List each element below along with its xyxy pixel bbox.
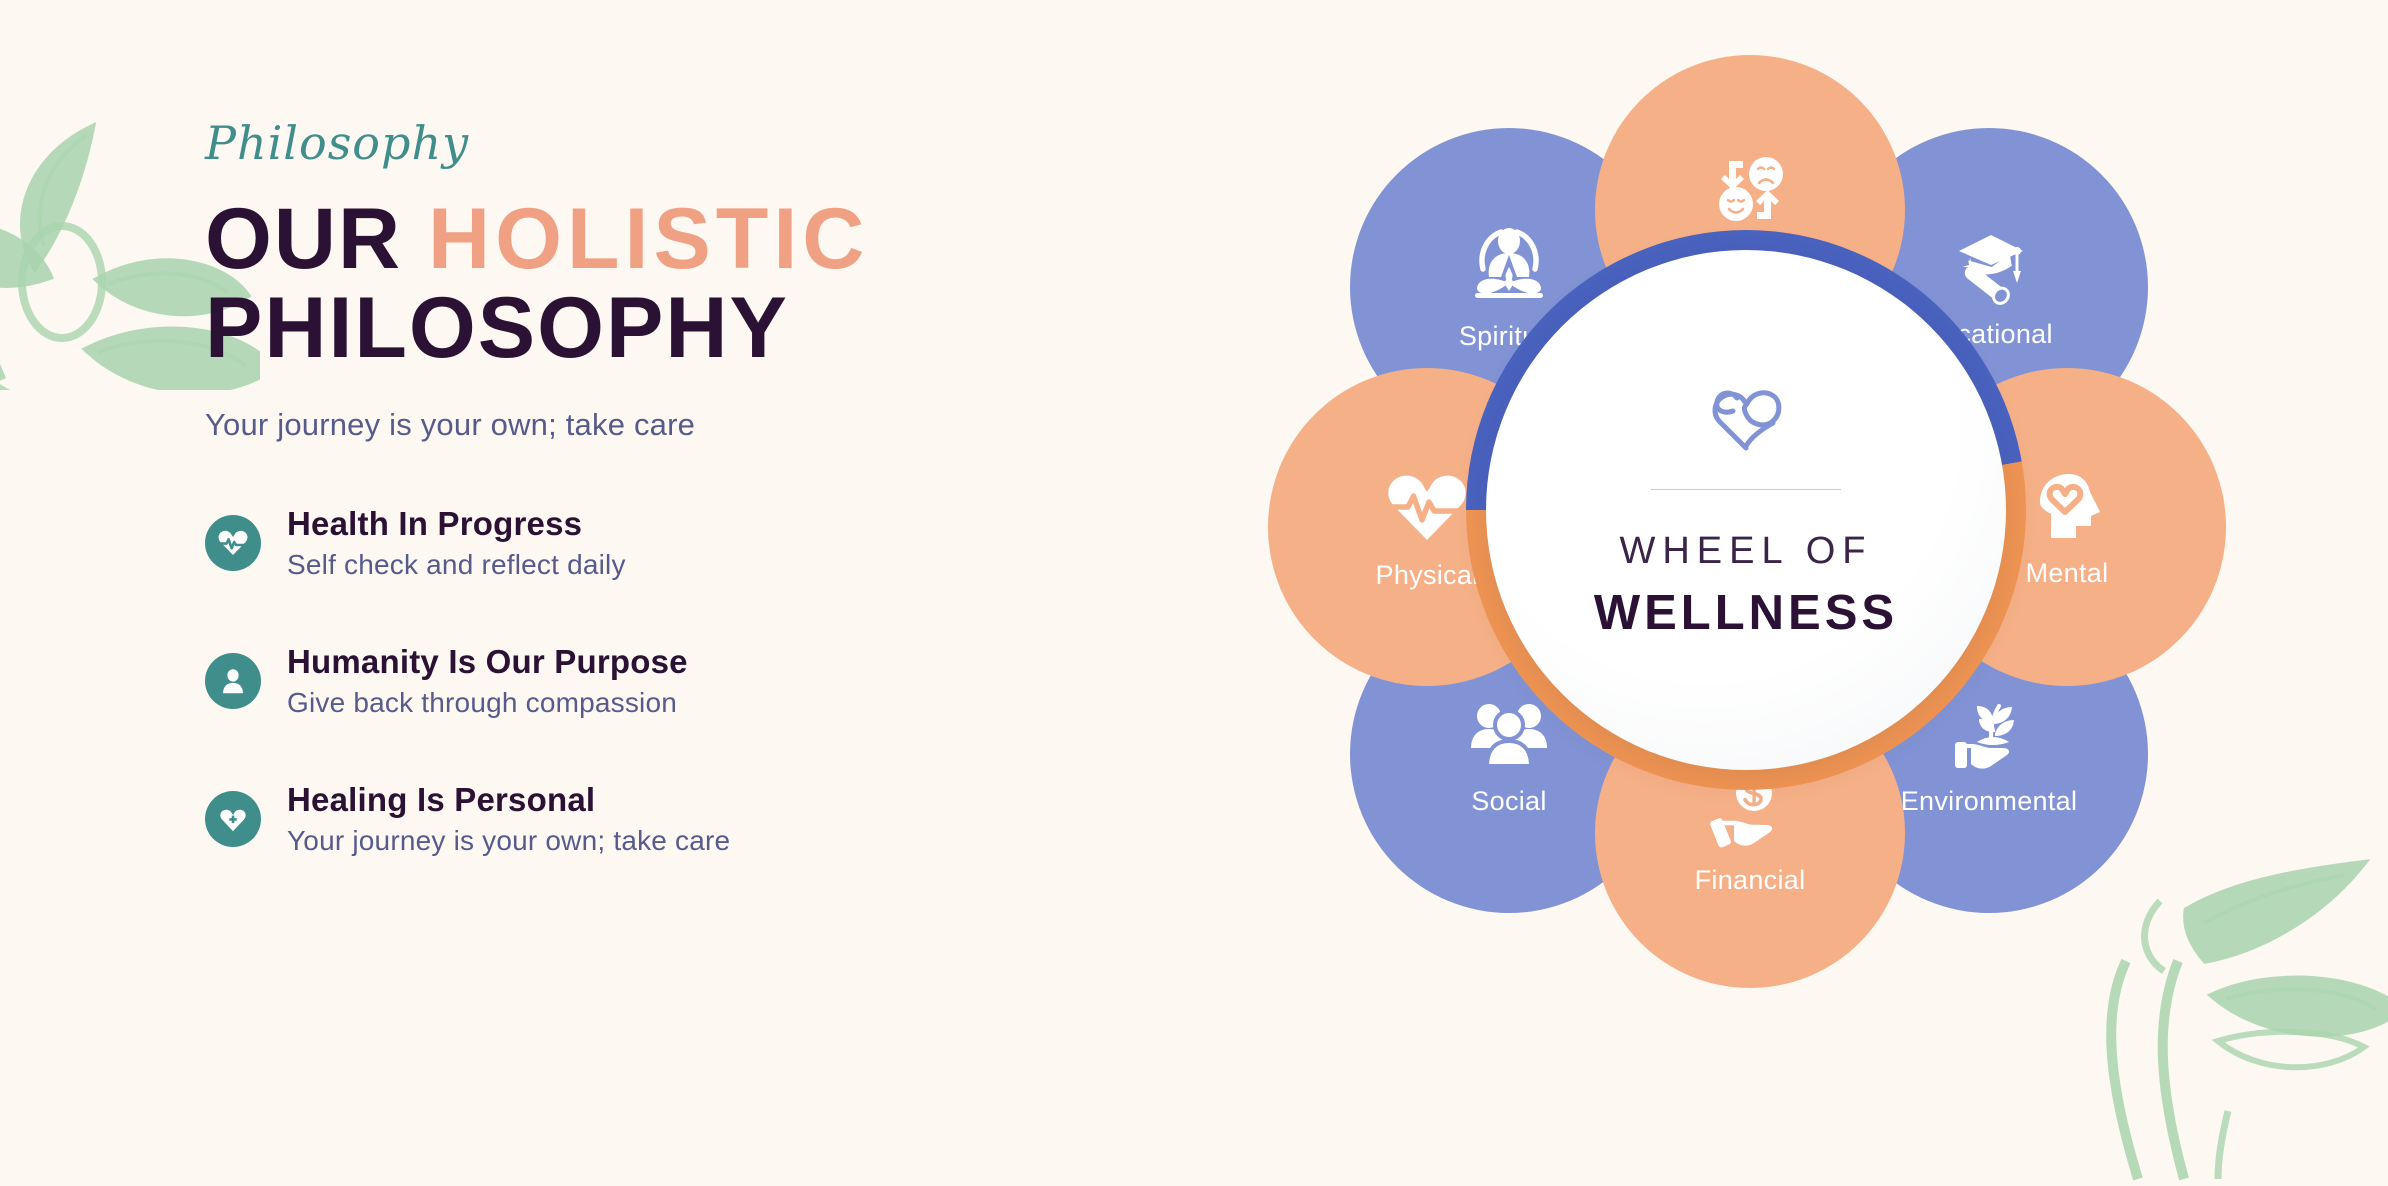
heart-pulse-icon (1384, 464, 1470, 550)
heartbeat-icon (205, 515, 261, 571)
wheel-petal-label: Environmental (1901, 786, 2078, 817)
feature-list: Health In Progress Self check and reflec… (205, 505, 1145, 857)
list-item[interactable]: Healing Is Personal Your journey is your… (205, 781, 1145, 857)
list-item[interactable]: Humanity Is Our Purpose Give back throug… (205, 643, 1145, 719)
wheel-center-hub: WHEEL OF WELLNESS (1486, 250, 2006, 770)
person-icon (205, 653, 261, 709)
wheel-of-wellness: Emotional Vocational (1190, 30, 2310, 1130)
subheadline: Your journey is your own; take care (205, 407, 1145, 443)
list-item-desc: Self check and reflect daily (287, 549, 626, 581)
mood-swap-icon (1709, 149, 1791, 231)
meditation-icon (1465, 223, 1553, 311)
heart-shield-icon (205, 791, 261, 847)
list-item-title: Healing Is Personal (287, 781, 730, 819)
wheel-petal-label: Mental (2026, 558, 2109, 589)
hand-plant-icon (1947, 692, 2031, 776)
list-item-title: Health In Progress (287, 505, 626, 543)
hub-divider (1651, 489, 1841, 490)
wheel-petal-label: Financial (1695, 865, 1806, 896)
list-item-desc: Give back through compassion (287, 687, 688, 719)
wheel-title-bottom: WELLNESS (1594, 585, 1898, 641)
heart-leaf-logo-icon (1707, 380, 1785, 463)
headline-word-accent: HOLISTIC (428, 191, 869, 287)
headline-line-2: PHILOSOPHY (205, 280, 789, 376)
wheel-title-top: WHEEL OF (1619, 530, 1872, 573)
headline-word-dark: OUR (205, 191, 402, 287)
eyebrow-label: Philosophy (205, 118, 1145, 169)
list-item[interactable]: Health In Progress Self check and reflec… (205, 505, 1145, 581)
head-heart-icon (2026, 466, 2108, 548)
list-item-desc: Your journey is your own; take care (287, 825, 730, 857)
page-title: OUR HOLISTIC PHILOSOPHY (205, 195, 1145, 374)
graduation-icon (1947, 225, 2031, 309)
list-item-title: Humanity Is Our Purpose (287, 643, 688, 681)
philosophy-panel: Philosophy OUR HOLISTIC PHILOSOPHY Your … (205, 118, 1145, 857)
wheel-petal-label: Social (1471, 786, 1546, 817)
wheel-petal-label: Physical (1376, 560, 1479, 591)
people-group-icon (1467, 692, 1551, 776)
